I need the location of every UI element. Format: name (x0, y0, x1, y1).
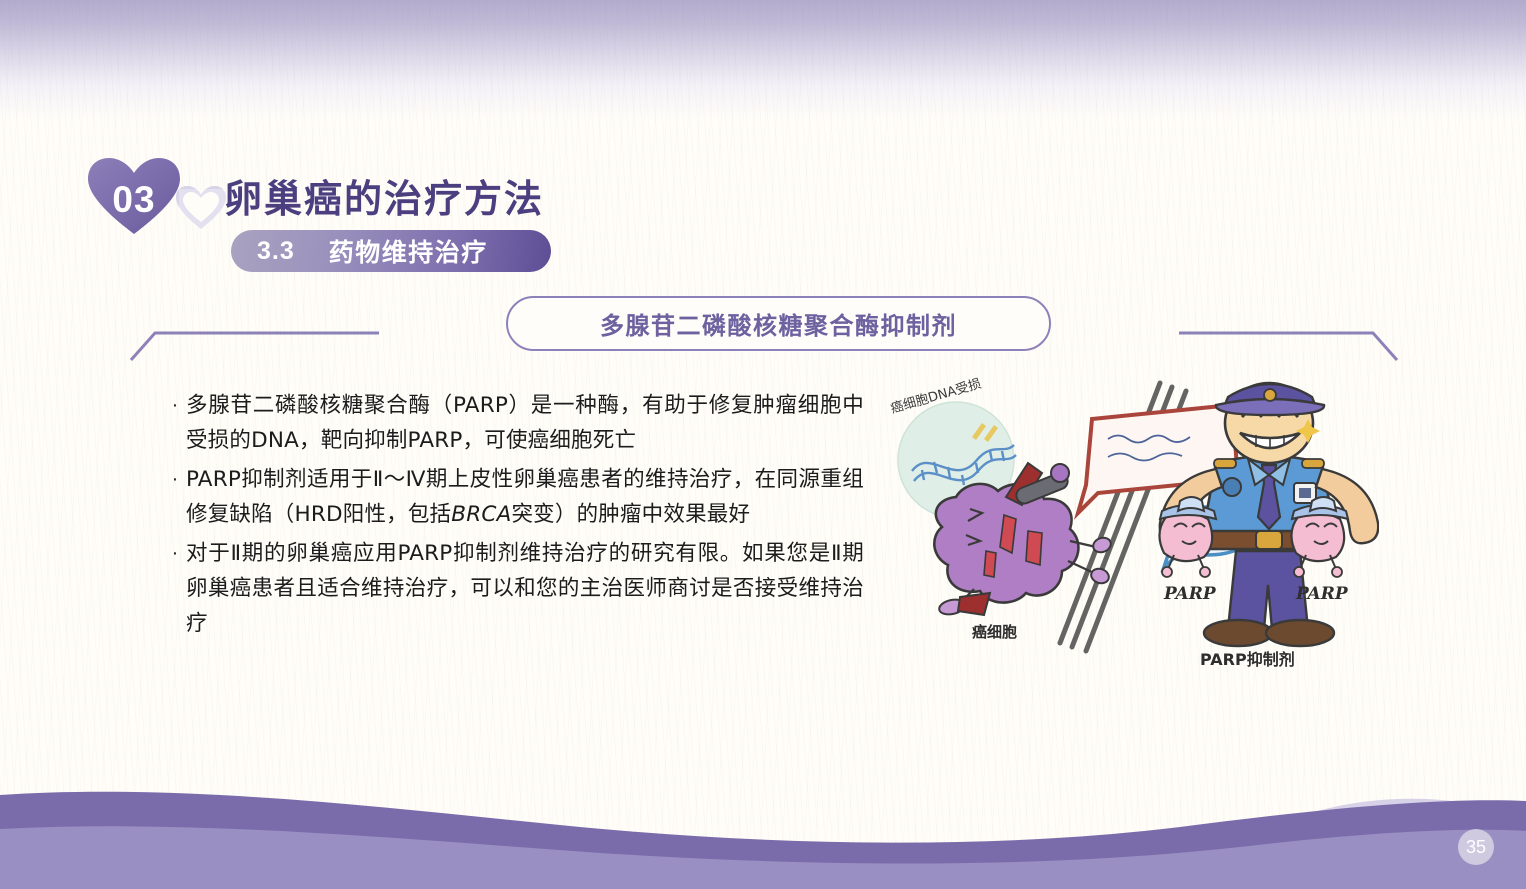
shoe-right (1266, 620, 1334, 646)
parp-character-left: PARP (1159, 497, 1216, 604)
shoe-left (1204, 620, 1272, 646)
parp-inhibitor-illustration: 癌细胞DNA受损 (864, 375, 1379, 675)
subsection-number: 3.3 (257, 237, 295, 266)
list-item: · 对于Ⅱ期的卵巢癌应用PARP抑制剂维持治疗的研究有限。如果您是Ⅱ期卵巢癌患者… (164, 536, 864, 641)
bullet-text: 多腺苷二磷酸核糖聚合酶（PARP）是一种酶，有助于修复肿瘤细胞中受损的DNA，靶… (186, 388, 864, 458)
page-header: 03 卵巢癌的治疗方法 3.3 药物维持治疗 (0, 0, 1526, 290)
list-item: · PARP抑制剂适用于Ⅱ～Ⅳ期上皮性卵巢癌患者的维持治疗，在同源重组修复缺陷（… (164, 462, 864, 532)
bullet-text: 对于Ⅱ期的卵巢癌应用PARP抑制剂维持治疗的研究有限。如果您是Ⅱ期卵巢癌患者且适… (186, 536, 864, 641)
panel-title-text: 多腺苷二磷酸核糖聚合酶抑制剂 (600, 306, 957, 341)
label-cancer-cell: 癌细胞 (972, 623, 1017, 641)
bottom-wave-decoration (0, 739, 1526, 889)
page-number-badge: 35 (1458, 829, 1494, 865)
subsection-title: 药物维持治疗 (329, 233, 488, 269)
page-root: 03 卵巢癌的治疗方法 3.3 药物维持治疗 (0, 0, 1526, 889)
content-panel: 多腺苷二磷酸核糖聚合酶抑制剂 · 多腺苷二磷酸核糖聚合酶（PARP）是一种酶，有… (129, 330, 1399, 720)
label-parp-left: PARP (1163, 584, 1217, 604)
label-parp-right: PARP (1295, 584, 1349, 604)
bullet-text: PARP抑制剂适用于Ⅱ～Ⅳ期上皮性卵巢癌患者的维持治疗，在同源重组修复缺陷（HR… (186, 462, 864, 532)
police-badge (1223, 478, 1241, 496)
page-number: 35 (1466, 837, 1486, 858)
section-number-heart-icon: 03 (88, 158, 180, 236)
belt-buckle (1256, 531, 1282, 549)
subsection-badge: 3.3 药物维持治疗 (231, 230, 551, 272)
panel-title-pill: 多腺苷二磷酸核糖聚合酶抑制剂 (506, 296, 1051, 351)
gene-name-brca: BRCA (451, 502, 511, 527)
bullet-marker: · (164, 462, 186, 497)
bullet-list: · 多腺苷二磷酸核糖聚合酶（PARP）是一种酶，有助于修复肿瘤细胞中受损的DNA… (164, 388, 864, 645)
bullet-text-post: 突变）的肿瘤中效果最好 (511, 502, 750, 527)
bullet-marker: · (164, 536, 186, 571)
page-title: 卵巢癌的治疗方法 (224, 168, 544, 223)
megaphone-icon (1006, 463, 1070, 506)
label-parp-inhibitor: PARP抑制剂 (1200, 650, 1295, 669)
bullet-marker: · (164, 388, 186, 423)
list-item: · 多腺苷二磷酸核糖聚合酶（PARP）是一种酶，有助于修复肿瘤细胞中受损的DNA… (164, 388, 864, 458)
cap-emblem (1264, 389, 1276, 401)
cancer-cell-tail (958, 593, 990, 615)
section-number: 03 (88, 158, 180, 236)
parp-character-right: PARP (1291, 497, 1348, 604)
